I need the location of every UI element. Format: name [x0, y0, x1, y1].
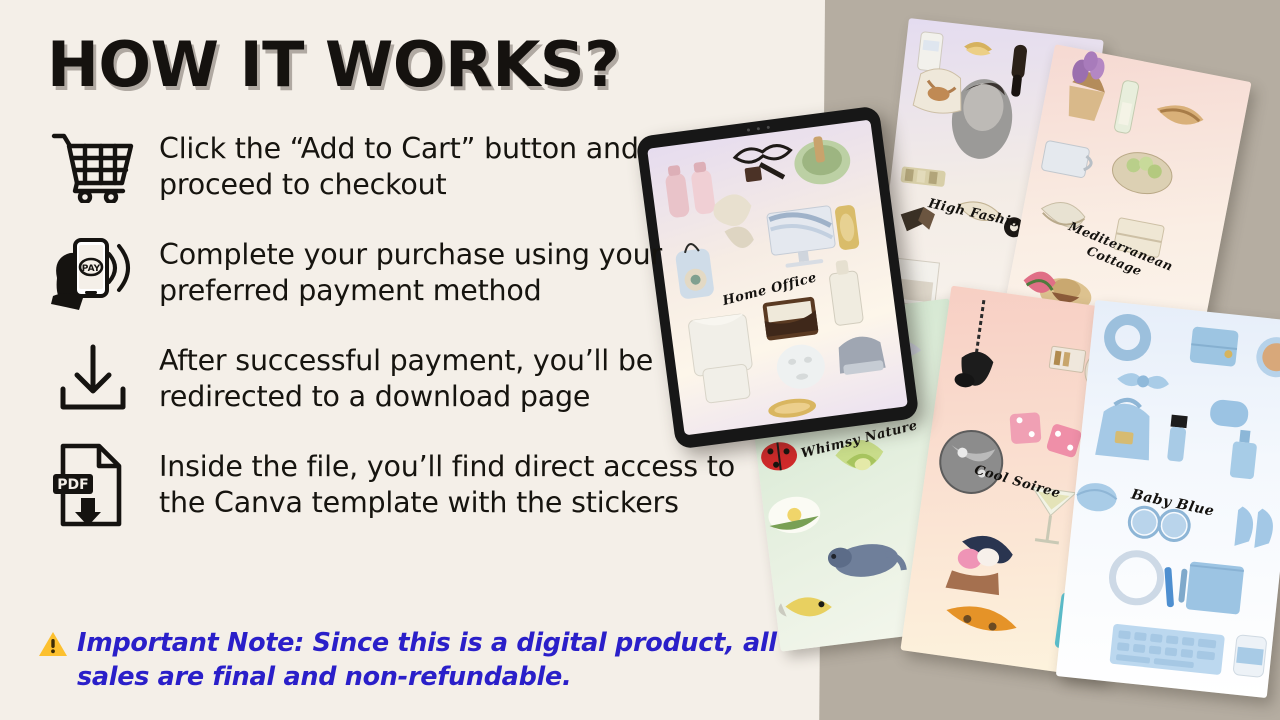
important-note: Important Note: Since this is a digital …	[38, 627, 778, 695]
pdf-download-icon: PDF	[47, 442, 139, 528]
poster-canvas: High Fashion	[0, 0, 1280, 720]
steps-list: Click the “Add to Cart” button and proce…	[47, 124, 778, 528]
warning-triangle-icon	[38, 630, 68, 663]
mobile-payment-icon: PAY	[47, 230, 139, 316]
important-note-text: Important Note: Since this is a digital …	[77, 627, 778, 695]
shopping-cart-icon	[47, 124, 139, 210]
step-text: After successful payment, you’ll be redi…	[159, 343, 759, 415]
step-text: Complete your purchase using your prefer…	[159, 237, 759, 309]
pdf-badge-label: PDF	[57, 477, 88, 493]
page-title: HOW IT WORKS?	[47, 34, 778, 96]
step-item: After successful payment, you’ll be redi…	[47, 336, 778, 422]
step-item: PAY Complete your purchase using your pr…	[47, 230, 778, 316]
download-icon	[47, 336, 139, 422]
step-item: PDF Inside the file, you’ll find direct …	[47, 442, 778, 528]
left-content-column: HOW IT WORKS? Click the “Add to Cart” bu	[0, 0, 818, 720]
step-text: Inside the file, you’ll find direct acce…	[159, 449, 759, 521]
step-text: Click the “Add to Cart” button and proce…	[159, 131, 759, 203]
sticker-sheet-baby-blue: Baby Blue	[1056, 300, 1280, 698]
step-item: Click the “Add to Cart” button and proce…	[47, 124, 778, 210]
pay-badge-label: PAY	[82, 264, 101, 274]
